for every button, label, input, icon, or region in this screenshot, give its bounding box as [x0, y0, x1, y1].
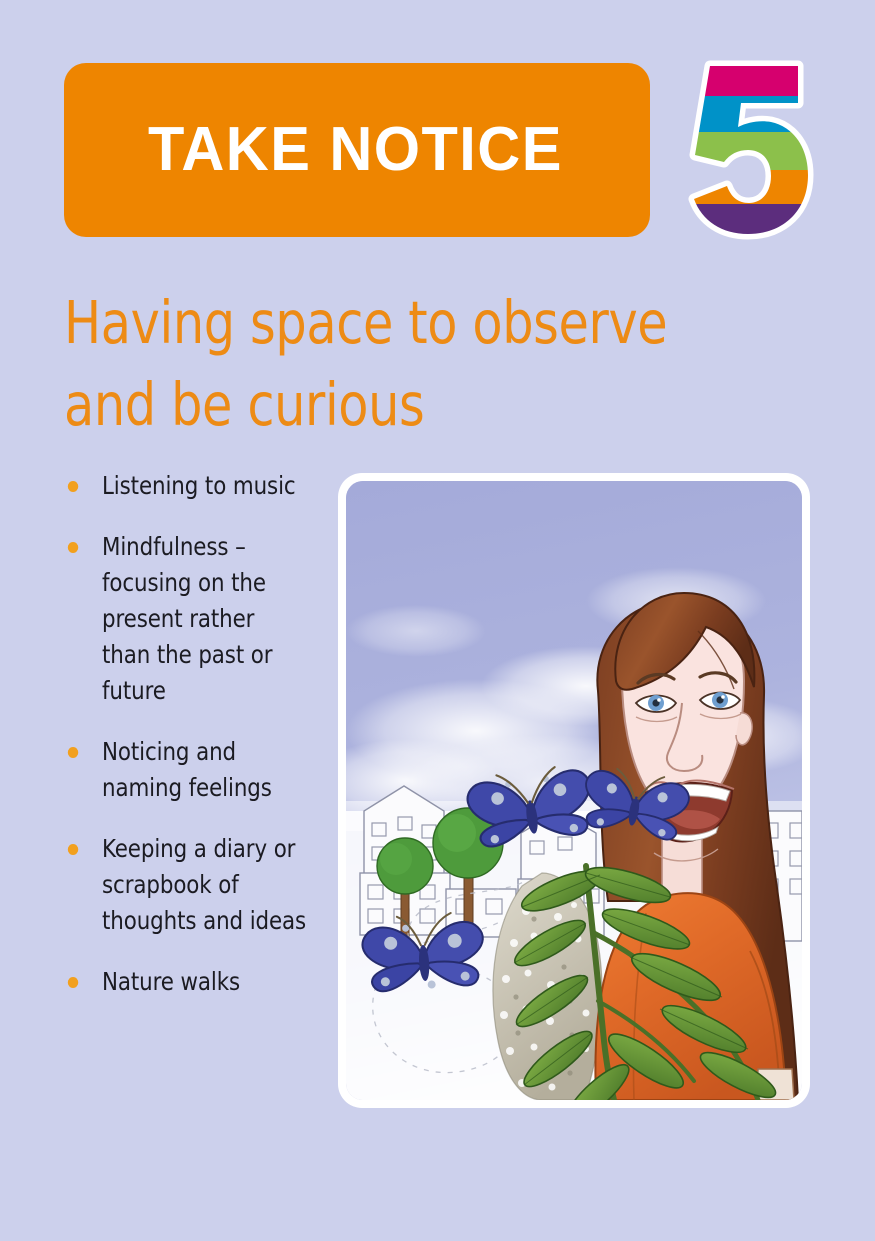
list-item: Keeping a diary or scrapbook of thoughts… [64, 831, 307, 939]
illustration-frame [346, 481, 802, 1100]
bullet-dot-icon [68, 542, 78, 553]
subtitle-line-2: and be curious [64, 364, 715, 446]
poster-page: TAKE NOTICE Having spac [0, 0, 875, 1241]
bullet-dot-icon [68, 977, 78, 988]
list-item: Nature walks [64, 964, 307, 1000]
bullet-dot-icon [68, 481, 78, 492]
list-item: Noticing and naming feelings [64, 734, 307, 806]
list-item-label: Noticing and naming feelings [102, 737, 272, 802]
activity-list: Listening to music Mindfulness – focusin… [64, 468, 320, 1025]
list-item-label: Keeping a diary or scrapbook of thoughts… [102, 834, 306, 935]
list-item: Mindfulness – focusing on the present ra… [64, 529, 307, 709]
list-item-label: Listening to music [102, 471, 296, 500]
subtitle-line-1: Having space to observe [64, 282, 715, 364]
page-title: TAKE NOTICE [148, 119, 563, 181]
bullet-dot-icon [68, 844, 78, 855]
bullet-dot-icon [68, 747, 78, 758]
list-item-label: Mindfulness – focusing on the present ra… [102, 532, 272, 705]
illustration-artwork [346, 481, 802, 1100]
illustration-card [338, 473, 810, 1108]
step-number-badge [686, 58, 814, 240]
header-band: TAKE NOTICE [64, 63, 650, 237]
subtitle: Having space to observe and be curious [64, 282, 715, 446]
list-item: Listening to music [64, 468, 307, 504]
stripe-blue [686, 96, 814, 132]
list-item-label: Nature walks [102, 967, 240, 996]
